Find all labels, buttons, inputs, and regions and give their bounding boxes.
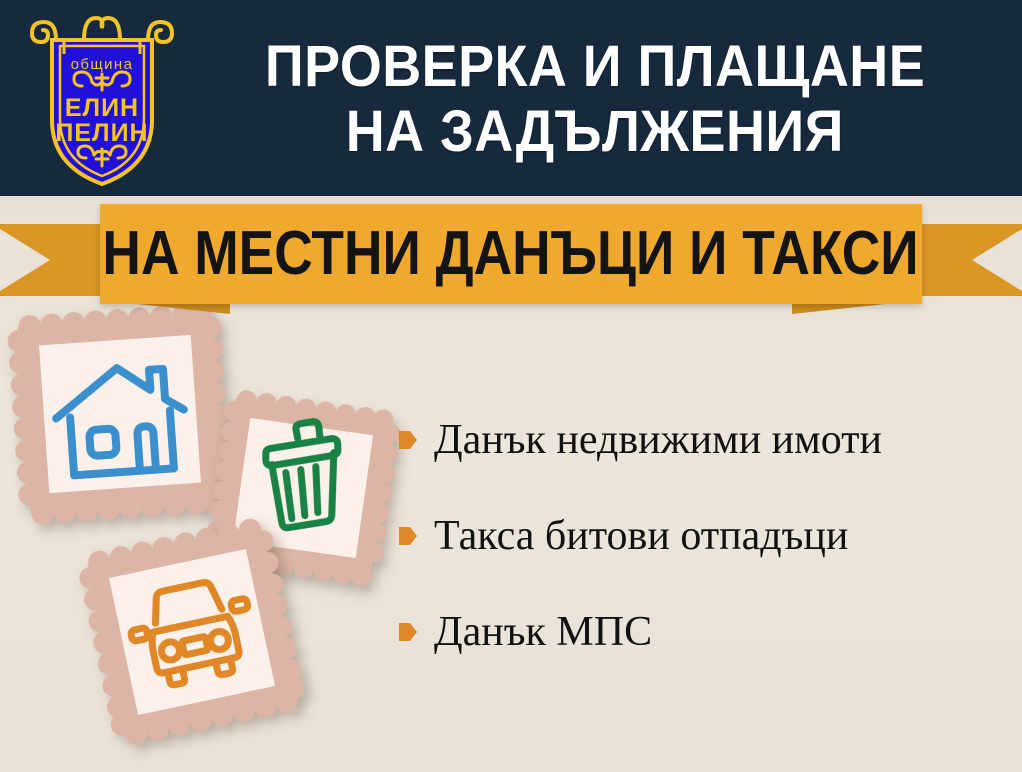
- crest-name-line1: ЕЛИН: [65, 94, 139, 122]
- list-item: Данък недвижими имоти: [398, 418, 1018, 462]
- page-title: ПРОВЕРКА И ПЛАЩАНЕ НА ЗАДЪЛЖЕНИЯ: [185, 14, 1005, 184]
- ribbon-banner: НА МЕСТНИ ДАНЪЦИ И ТАКСИ: [100, 204, 922, 304]
- stamp-cluster: [0, 300, 420, 772]
- list-item: Такса битови отпадъци: [398, 514, 1018, 558]
- title-line-1: ПРОВЕРКА И ПЛАЩАНЕ: [265, 37, 925, 96]
- title-line-2: НА ЗАДЪЛЖЕНИЯ: [346, 102, 844, 161]
- stamp-card-property: [5, 301, 235, 528]
- list-item-label: Данък МПС: [434, 610, 652, 654]
- bullet-arrow-icon: [398, 620, 418, 644]
- list-item: Данък МПС: [398, 610, 1018, 654]
- tax-type-list: Данък недвижими имоти Такса битови отпад…: [398, 418, 1018, 654]
- subtitle-ribbon: НА МЕСТНИ ДАНЪЦИ И ТАКСИ: [0, 200, 1022, 310]
- coat-of-arms-icon: община ЕЛИН ПЕЛИН: [26, 8, 178, 190]
- poster-root: община ЕЛИН ПЕЛИН: [0, 0, 1022, 772]
- bullet-arrow-icon: [398, 524, 418, 548]
- stamp-card-vehicle: [73, 513, 310, 750]
- crest-top-text: община: [71, 56, 134, 73]
- list-item-label: Такса битови отпадъци: [434, 514, 848, 558]
- ribbon-label: НА МЕСТНИ ДАНЪЦИ И ТАКСИ: [103, 223, 919, 285]
- crest-name-line2: ПЕЛИН: [55, 119, 148, 147]
- header-bar: община ЕЛИН ПЕЛИН: [0, 0, 1022, 196]
- list-item-label: Данък недвижими имоти: [434, 418, 882, 462]
- bullet-arrow-icon: [398, 428, 418, 452]
